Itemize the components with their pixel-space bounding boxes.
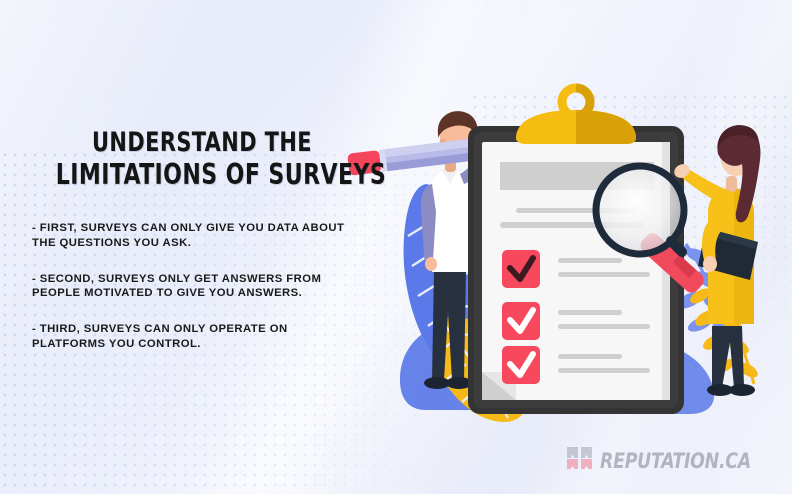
bullet-list: - First, surveys can only give you data … bbox=[32, 221, 372, 351]
reputation-squares-mark-icon bbox=[567, 447, 593, 474]
logo-wordmark: REPUTATION.CA bbox=[600, 449, 751, 473]
bullet-item-1: - First, surveys can only give you data … bbox=[32, 221, 348, 250]
reputation-ca-logo[interactable]: REPUTATION.CA bbox=[567, 447, 764, 474]
page-title-line2: Limitations of Surveys bbox=[56, 159, 348, 191]
text-column: Understand the Limitations of Surveys - … bbox=[32, 128, 372, 351]
survey-illustration bbox=[330, 80, 792, 440]
page-title-line1: Understand the bbox=[56, 128, 348, 159]
infographic-canvas: Understand the Limitations of Surveys - … bbox=[0, 0, 792, 494]
bullet-item-2: - Second, surveys only get answers from … bbox=[32, 272, 348, 301]
clipboard-clip bbox=[516, 88, 636, 144]
bullet-item-3: - Third, surveys can only operate on pla… bbox=[32, 322, 348, 351]
page-title: Understand the Limitations of Surveys bbox=[56, 128, 348, 191]
